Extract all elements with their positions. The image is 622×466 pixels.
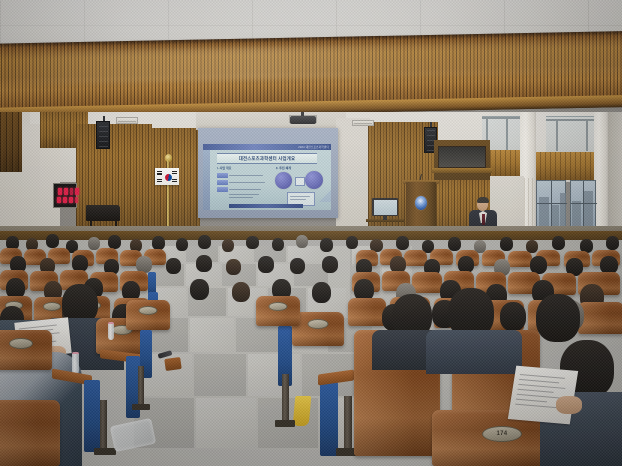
led-digit-8 <box>75 197 78 203</box>
seat-number-plate <box>269 302 288 311</box>
audience-head <box>108 235 121 249</box>
slide-bullet-chip-3 <box>217 187 228 192</box>
audience-head <box>296 235 308 248</box>
seat-number-plate <box>9 338 33 349</box>
audience-head <box>198 235 211 249</box>
seat-number-plate <box>43 302 61 311</box>
confidence-monitor-screen <box>374 200 397 215</box>
audience-head <box>46 234 59 248</box>
window-mullion-h2 <box>571 203 597 204</box>
audience-head <box>500 302 526 331</box>
led-digit-1 <box>58 188 62 195</box>
column-right-edge <box>608 112 622 240</box>
balcony-post-2 <box>506 117 508 151</box>
led-digit-5 <box>57 197 61 203</box>
led-digit-3 <box>70 188 73 195</box>
slide-bullet-3 <box>217 187 267 192</box>
slide-bullet-line-2 <box>229 182 265 183</box>
booklet-text-line <box>520 374 565 379</box>
led-row-top <box>58 188 79 195</box>
ceiling-vent-right <box>352 120 374 126</box>
balcony-post-4 <box>586 119 588 151</box>
booklet-text-line <box>517 389 553 393</box>
water-bottle[interactable] <box>72 352 79 374</box>
audience-head <box>322 256 338 273</box>
grand-piano <box>86 205 120 221</box>
seat-row-3[interactable] <box>348 298 386 326</box>
audience-head <box>346 236 358 249</box>
flag-trigram-tr-2 <box>172 173 177 174</box>
confidence-monitor <box>372 198 398 216</box>
seat-row-2[interactable] <box>412 272 442 293</box>
seat-number-plate <box>139 306 158 315</box>
led-digital-display <box>53 183 77 208</box>
audience-head <box>272 238 284 251</box>
balcony-rail-left <box>482 117 522 119</box>
slide-header-bar: 2024 대전스포츠과학센터 <box>203 144 331 150</box>
audience-head <box>258 256 274 273</box>
seat-mid-left-2[interactable] <box>126 300 170 330</box>
hand-holding-booklet <box>556 396 582 414</box>
ceiling-vent-left <box>116 117 138 124</box>
audience-head <box>222 239 234 252</box>
audience-head <box>88 237 100 250</box>
ceiling-projector <box>290 116 316 124</box>
booth-glass-window <box>438 146 486 168</box>
flag-trigram-br-2 <box>172 181 177 182</box>
water-bottle[interactable] <box>108 322 114 340</box>
audience-head <box>396 236 409 250</box>
led-digit-2 <box>64 188 68 195</box>
audience-head <box>226 259 241 275</box>
yellow-tote-bag[interactable] <box>293 396 312 426</box>
audience-head <box>246 236 259 249</box>
seat-row-3[interactable] <box>578 302 622 334</box>
seat-side-panel-right-aisle <box>320 382 338 456</box>
slide-bullet-line-3 <box>229 189 261 190</box>
seat-mid-right-2[interactable] <box>256 296 300 326</box>
slide-diagram-circle-left <box>275 172 292 189</box>
audience-head <box>606 236 619 250</box>
audience-head <box>290 258 305 274</box>
audience-head <box>552 236 565 250</box>
floor-tile <box>190 318 234 352</box>
seat-leg <box>138 366 144 406</box>
led-digit-7 <box>69 197 73 203</box>
presenter-tie <box>482 214 485 225</box>
seat-foreground-left-2[interactable] <box>0 400 60 466</box>
slide-corner-decoration <box>319 190 331 202</box>
wood-wall-far-left <box>0 112 22 172</box>
audience-head <box>166 258 181 274</box>
program-booklet[interactable] <box>508 366 578 425</box>
seat-back-row[interactable] <box>508 251 532 267</box>
audience-head <box>190 279 209 300</box>
booth-ledge <box>432 168 492 173</box>
seat-number-plate-174: 174 <box>482 426 522 442</box>
auditorium-photo: 2024 대전스포츠과학센터 대전스포츠과학센터 사업개요 Ⅰ. 사업 개요 Ⅱ… <box>0 0 622 466</box>
led-digit-4 <box>75 188 79 195</box>
brown-bag-on-floor[interactable] <box>164 357 182 371</box>
slide-bullet-line-1 <box>229 175 263 176</box>
slide-right-heading: Ⅱ. 추진 체계 <box>276 166 291 170</box>
slide-title-text: 대전스포츠과학센터 사업개요 <box>239 156 296 162</box>
slide-bullet-chip-2 <box>217 180 228 185</box>
flag-trigram-bl-2 <box>157 181 162 182</box>
slide-diagram-circle-right <box>305 171 323 189</box>
seat-number-text: 174 <box>497 431 508 437</box>
audience-head <box>500 237 513 251</box>
flag-trigram-tl-3 <box>157 174 162 175</box>
slide-bullet-chip-1 <box>217 173 228 178</box>
slide-footer-bar <box>229 204 303 208</box>
led-row-bottom <box>57 197 78 203</box>
slide-bullet-line-4 <box>229 194 259 195</box>
line-array-speaker-left <box>96 121 110 149</box>
column-right-2 <box>594 112 608 240</box>
seat-foreground-left-1[interactable] <box>0 330 52 370</box>
seat-floor-mount <box>275 420 295 427</box>
plaster-column-left <box>22 124 40 240</box>
slide-bullet-2 <box>217 180 267 185</box>
slide-left-accent-panel <box>203 150 210 210</box>
audience-head-foreground <box>536 294 580 342</box>
audience-head <box>312 282 331 303</box>
monitor-stand <box>383 216 387 220</box>
booklet-text-line <box>515 404 556 409</box>
audience-shoulders <box>426 330 522 374</box>
floor-tile <box>248 354 300 396</box>
audience-head <box>320 238 333 252</box>
slide-bullet-1 <box>217 173 267 178</box>
audience-head <box>176 238 188 251</box>
booklet-text-line <box>518 384 565 389</box>
booklet-text-line <box>517 394 560 399</box>
slide-left-heading: Ⅰ. 사업 개요 <box>217 166 231 170</box>
slide-diagram-link-box <box>295 177 305 186</box>
seat-leg <box>344 396 352 452</box>
seat-leg <box>100 400 107 450</box>
projection-screen-slide: 2024 대전스포츠과학센터 대전스포츠과학센터 사업개요 Ⅰ. 사업 개요 Ⅱ… <box>203 144 331 210</box>
booklet-text-line <box>519 379 559 383</box>
seat-side-panel-foreground <box>84 380 100 452</box>
led-digit-6 <box>63 197 67 203</box>
slide-title-box: 대전스포츠과학센터 사업개요 <box>217 153 317 164</box>
slide-header-note: 2024 대전스포츠과학센터 <box>298 145 329 149</box>
audience-head <box>196 255 212 272</box>
plaster-panel-center <box>336 118 370 240</box>
seat-number-plate <box>308 319 329 329</box>
seat-floor-mount <box>132 404 150 410</box>
slide-bullet-line-5 <box>229 197 253 198</box>
floor-tile <box>194 354 246 396</box>
booklet-text-line <box>516 399 547 403</box>
presenter-hair <box>477 197 489 203</box>
seat-floor-mount <box>94 448 116 455</box>
audience-head <box>232 282 250 302</box>
audience-head <box>152 236 165 250</box>
balcony-post-3 <box>556 119 558 151</box>
audience-head <box>448 237 461 251</box>
floor-tile <box>196 398 256 448</box>
window-mullion-h1 <box>537 203 567 204</box>
seat-leg <box>282 374 289 422</box>
institution-emblem-icon <box>415 196 427 210</box>
